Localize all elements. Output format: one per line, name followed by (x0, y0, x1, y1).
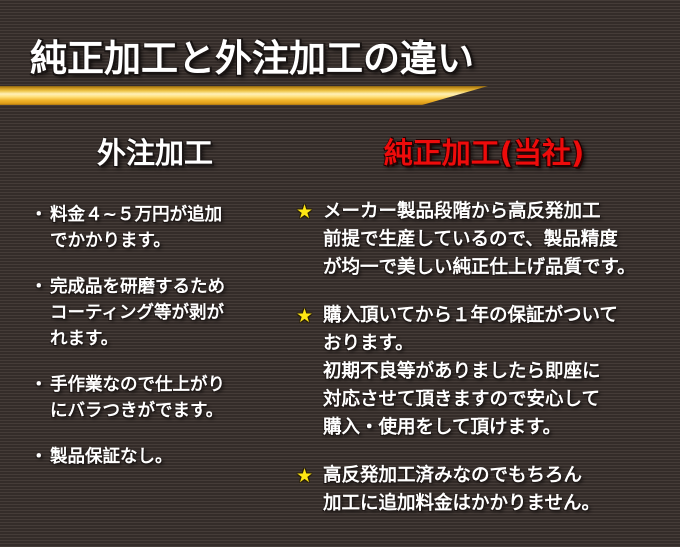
dot-bullet-icon: ・ (30, 372, 48, 398)
star-bullet-icon: ★ (296, 198, 313, 226)
list-item: ・料金４~５万円が追加でかかります。 (28, 202, 296, 254)
column-heading-genuine: 純正加工(当社) (296, 130, 672, 172)
title-block: 純正加工と外注加工の違い (0, 28, 680, 108)
star-bullet-icon: ★ (296, 302, 313, 330)
list-item-text: 完成品を研磨するためコーティング等が剥がれます。 (50, 274, 296, 352)
list-item: ・手作業なので仕上がりにバラつきがでます。 (28, 372, 296, 424)
page-title: 純正加工と外注加工の違い (30, 28, 474, 82)
list-item-text: 高反発加工済みなのでもちろん加工に追加料金はかかりません。 (323, 462, 672, 518)
bullet-list-outsourced: ・料金４~５万円が追加でかかります。・完成品を研磨するためコーティング等が剥がれ… (28, 202, 296, 470)
list-item-text: 手作業なので仕上がりにバラつきがでます。 (50, 372, 296, 424)
column-outsourced: 外注加工 ・料金４~５万円が追加でかかります。・完成品を研磨するためコーティング… (28, 130, 296, 490)
dot-bullet-icon: ・ (30, 274, 48, 300)
dot-bullet-icon: ・ (30, 444, 48, 470)
list-item: ★高反発加工済みなのでもちろん加工に追加料金はかかりません。 (296, 462, 672, 518)
list-item-text: 料金４~５万円が追加でかかります。 (50, 202, 296, 254)
list-item: ★購入頂いてから１年の保証がついております。初期不良等がありましたら即座に対応さ… (296, 302, 672, 442)
column-heading-outsourced: 外注加工 (14, 130, 296, 172)
column-genuine: 純正加工(当社) ★メーカー製品段階から高反発加工前提で生産しているので、製品精… (296, 130, 672, 538)
comparison-slide: 純正加工と外注加工の違い 外注加工 ・料金４~５万円が追加でかかります。・完成品… (0, 0, 680, 547)
list-item: ・製品保証なし。 (28, 444, 296, 470)
star-bullet-icon: ★ (296, 462, 313, 490)
dot-bullet-icon: ・ (30, 202, 48, 228)
bullet-list-genuine: ★メーカー製品段階から高反発加工前提で生産しているので、製品精度が均一で美しい純… (296, 198, 672, 518)
list-item-text: 購入頂いてから１年の保証がついております。初期不良等がありましたら即座に対応させ… (323, 302, 672, 442)
list-item-text: メーカー製品段階から高反発加工前提で生産しているので、製品精度が均一で美しい純正… (323, 198, 672, 282)
gold-accent-bar-tip (418, 86, 488, 105)
list-item: ・完成品を研磨するためコーティング等が剥がれます。 (28, 274, 296, 352)
list-item-text: 製品保証なし。 (50, 444, 296, 470)
list-item: ★メーカー製品段階から高反発加工前提で生産しているので、製品精度が均一で美しい純… (296, 198, 672, 282)
gold-accent-bar (0, 86, 488, 105)
